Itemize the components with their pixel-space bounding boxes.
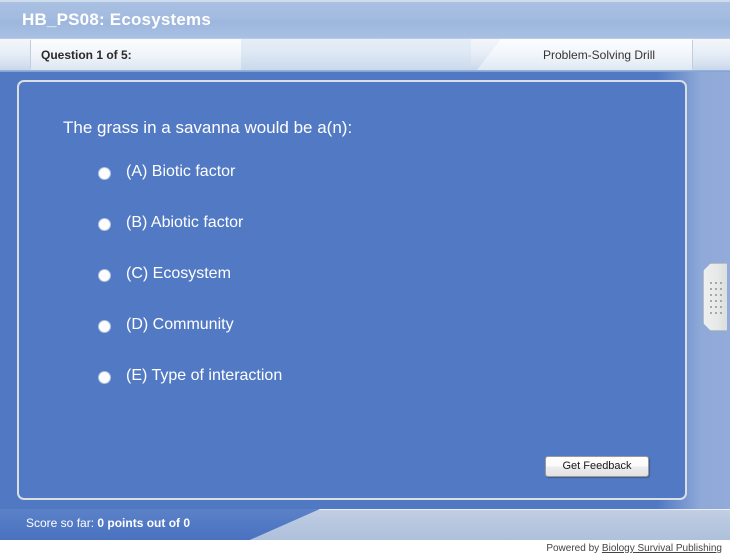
- radio-button-e-icon[interactable]: [99, 372, 110, 383]
- answer-option-b[interactable]: (B) Abiotic factor: [99, 211, 659, 262]
- answer-options-list: (A) Biotic factor (B) Abiotic factor (C)…: [99, 160, 659, 415]
- radio-button-a-icon[interactable]: [99, 168, 110, 179]
- powered-by-label: Powered by: [546, 543, 602, 554]
- answer-option-d[interactable]: (D) Community: [99, 313, 659, 364]
- tab-divider-right: [692, 40, 693, 69]
- scroll-grip-handle[interactable]: [703, 263, 727, 331]
- publisher-link[interactable]: Biology Survival Publishing: [602, 543, 722, 554]
- score-bar: Score so far: 0 points out of 0: [0, 509, 730, 540]
- answer-option-d-label: (D) Community: [126, 316, 234, 334]
- answer-option-a-label: (A) Biotic factor: [126, 163, 235, 181]
- page-title: HB_PS08: Ecosystems: [22, 10, 211, 30]
- score-label: Score so far:: [26, 516, 97, 530]
- answer-option-b-label: (B) Abiotic factor: [126, 214, 243, 232]
- tab-segment-middle: [241, 39, 471, 70]
- title-bar: HB_PS08: Ecosystems: [0, 0, 730, 38]
- radio-button-c-icon[interactable]: [99, 270, 110, 281]
- score-value: 0 points out of 0: [97, 516, 190, 530]
- question-prompt: The grass in a savanna would be a(n):: [63, 118, 352, 138]
- tab-divider-left: [30, 40, 31, 69]
- answer-option-c[interactable]: (C) Ecosystem: [99, 262, 659, 313]
- answer-option-e-label: (E) Type of interaction: [126, 367, 282, 385]
- tab-diagonal-separator-right: [462, 39, 522, 70]
- answer-option-c-label: (C) Ecosystem: [126, 265, 231, 283]
- get-feedback-button[interactable]: Get Feedback: [545, 456, 649, 477]
- tab-bar: Question 1 of 5: Problem-Solving Drill: [0, 38, 730, 72]
- radio-button-d-icon[interactable]: [99, 321, 110, 332]
- radio-button-b-icon[interactable]: [99, 219, 110, 230]
- drill-type-label: Problem-Solving Drill: [543, 48, 655, 62]
- question-panel: The grass in a savanna would be a(n): (A…: [17, 80, 687, 500]
- answer-option-a[interactable]: (A) Biotic factor: [99, 160, 659, 211]
- answer-option-e[interactable]: (E) Type of interaction: [99, 364, 659, 415]
- grip-dots-icon: [709, 280, 723, 316]
- footer: Powered by Biology Survival Publishing: [0, 540, 730, 557]
- powered-by-credit: Powered by Biology Survival Publishing: [546, 543, 722, 554]
- quiz-application: HB_PS08: Ecosystems Question 1 of 5: Pro…: [0, 0, 730, 557]
- score-status: Score so far: 0 points out of 0: [26, 516, 190, 530]
- content-canvas: The grass in a savanna would be a(n): (A…: [0, 72, 730, 509]
- question-counter: Question 1 of 5:: [41, 48, 132, 62]
